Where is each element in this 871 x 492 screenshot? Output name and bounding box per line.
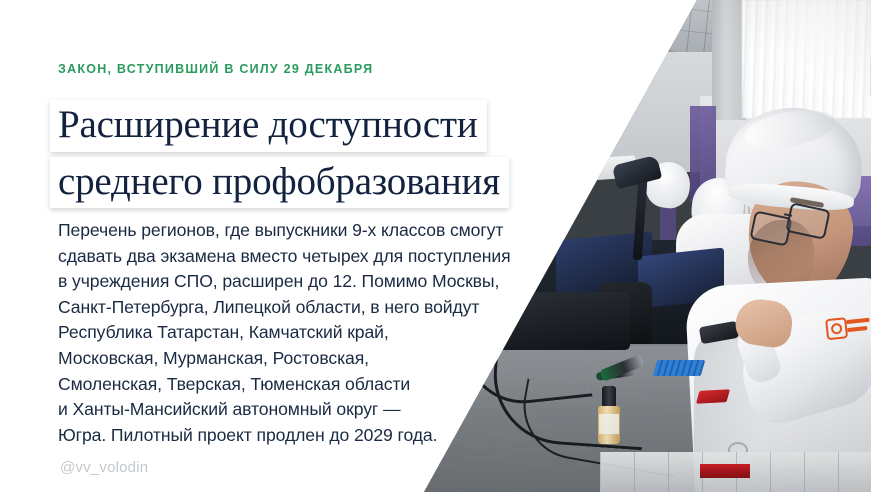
slide-canvas: ЗАКОН, ВСТУПИВШИЙ В СИЛУ 29 ДЕКАБРЯ Расш… — [0, 0, 871, 492]
headline-line-1: Расширение доступности — [50, 100, 487, 152]
eyebrow-label: ЗАКОН, ВСТУПИВШИЙ В СИЛУ 29 ДЕКАБРЯ — [58, 62, 373, 76]
headline-block: Расширение доступности среднего профобра… — [50, 100, 509, 208]
text-panel: ЗАКОН, ВСТУПИВШИЙ В СИЛУ 29 ДЕКАБРЯ Расш… — [0, 0, 620, 492]
headline-line-2: среднего профобразования — [50, 157, 509, 209]
social-handle: @vv_volodin — [60, 459, 148, 476]
body-paragraph: Перечень регионов, где выпускники 9-х кл… — [58, 218, 578, 448]
